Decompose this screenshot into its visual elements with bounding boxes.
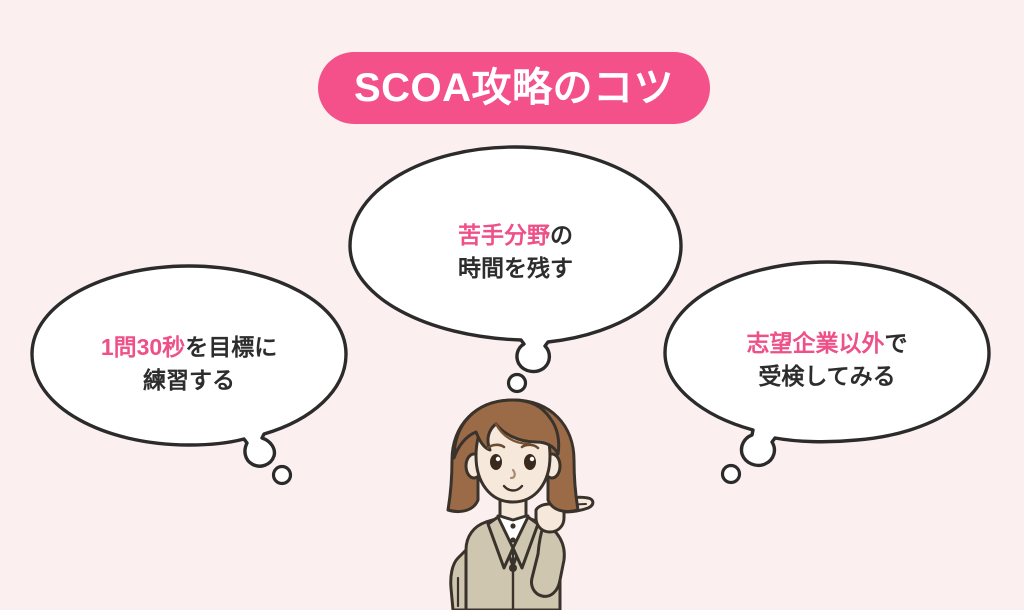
title-banner: SCOA攻略のコツ: [318, 52, 710, 124]
eye-left-highlight: [496, 457, 500, 461]
blouse-dot-2: [510, 537, 515, 542]
eye-left: [490, 454, 502, 470]
business-woman-illustration: [418, 398, 608, 610]
eye-right-highlight: [530, 457, 534, 461]
blouse-dot-1: [510, 523, 515, 528]
thought-bubble-right: 志望企業以外で 受検してみる: [657, 258, 997, 473]
thought-bubble-left: 1問30秒を目標に 練習する: [24, 262, 354, 474]
thought-bubble-middle: 苦手分野の 時間を残す: [343, 143, 688, 383]
character-svg: [418, 398, 608, 610]
bubble-right-shape: [657, 258, 997, 473]
bubble-middle-shape: [343, 143, 688, 383]
jacket-button: [509, 564, 517, 572]
page-title: SCOA攻略のコツ: [354, 68, 674, 108]
infographic-canvas: SCOA攻略のコツ 1問30秒を目標に 練習する 苦手分野の 時間を残す: [0, 0, 1024, 610]
bubble-left-shape: [24, 262, 354, 474]
eye-right: [524, 454, 536, 470]
